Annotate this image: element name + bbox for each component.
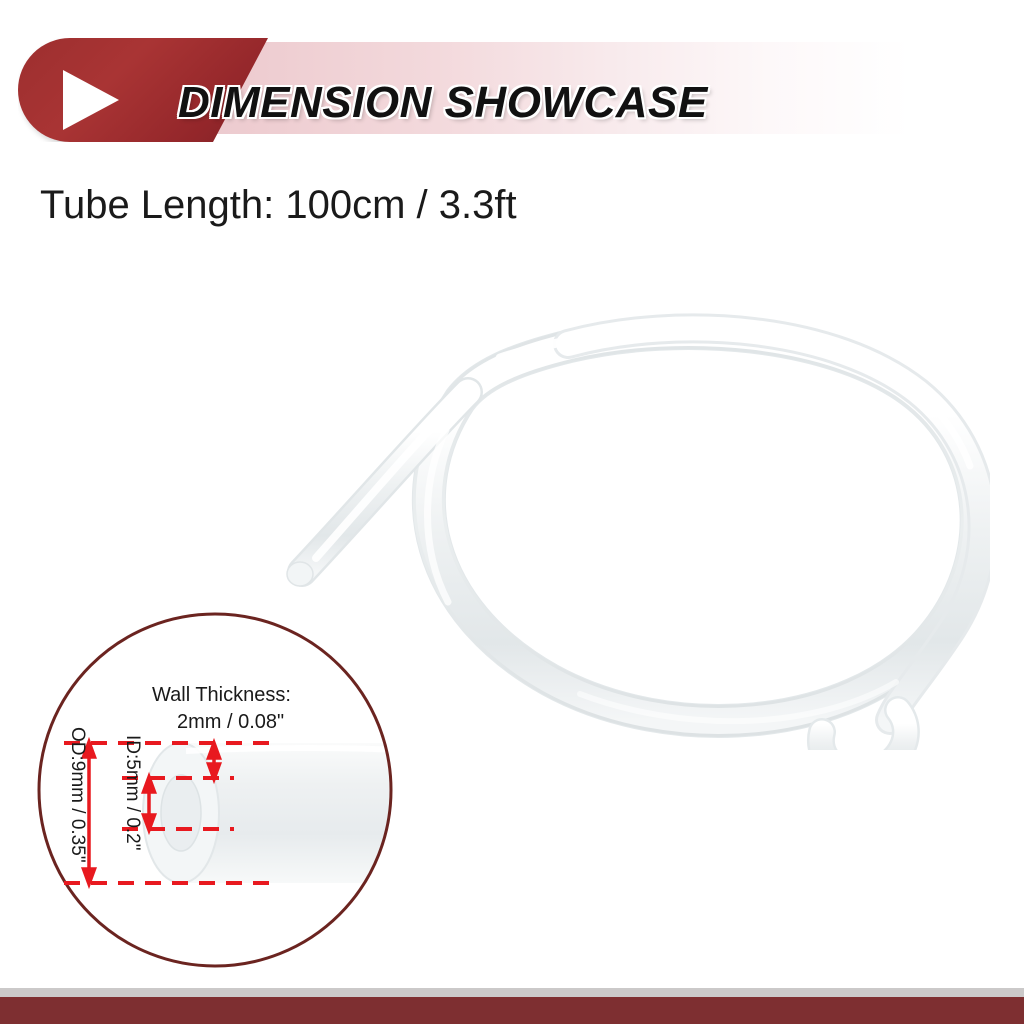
tube-length-label: Tube Length: 100cm / 3.3ft — [40, 183, 517, 228]
banner-title: DIMENSION SHOWCASE — [178, 78, 708, 128]
footer-gray-strip — [0, 988, 1024, 997]
tube-free-end-tip — [287, 562, 313, 586]
outer-diameter-label: OD:9mm / 0.35" — [66, 727, 88, 863]
tube-cross-section — [143, 743, 394, 883]
detail-magnifier-circle — [36, 611, 394, 969]
tube-second-wrap — [568, 328, 983, 720]
tube-bore-opening — [161, 775, 201, 851]
wall-thickness-value: 2mm / 0.08" — [177, 711, 284, 734]
dimension-showcase-page: DIMENSION SHOWCASE Tube Length: 100cm / … — [0, 0, 1024, 1024]
play-triangle-icon — [63, 70, 119, 130]
footer-bar — [0, 997, 1024, 1024]
wall-thickness-label: Wall Thickness: — [152, 684, 291, 707]
inner-diameter-label: ID:5mm / 0.2" — [121, 735, 143, 851]
header-banner: DIMENSION SHOWCASE — [0, 30, 1024, 150]
